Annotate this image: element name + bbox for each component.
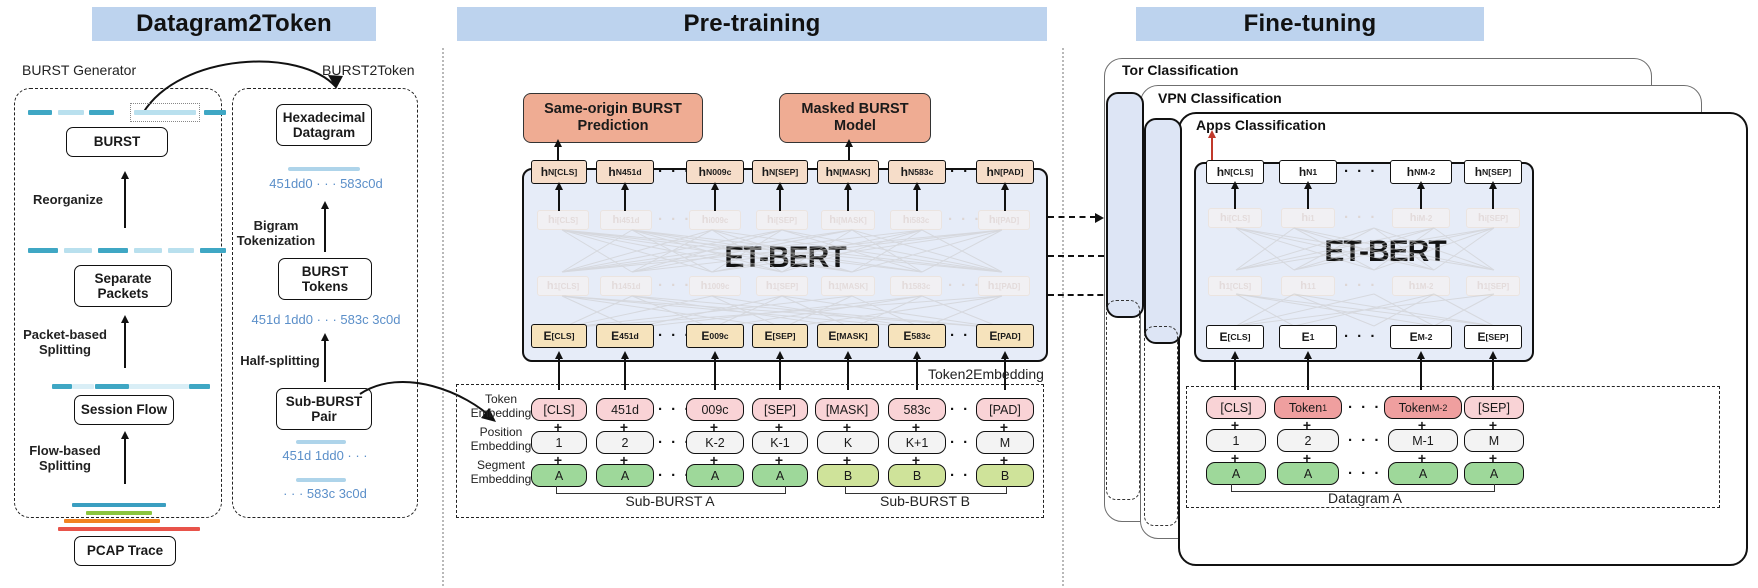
panel-separator-right bbox=[1062, 48, 1064, 586]
burst-segment bbox=[134, 110, 196, 115]
label-token-embedding: Token Embedding bbox=[462, 392, 540, 422]
ft-token-embedding-sep[interactable]: [SEP] bbox=[1464, 396, 1524, 419]
hidden-state-583c[interactable]: hN583c bbox=[888, 160, 946, 184]
stack-edge-tor-dashed bbox=[1106, 300, 1140, 500]
ft-hidden-row-ellipsis: · · · bbox=[1344, 163, 1377, 180]
box-separate-packets-label: Separate Packets bbox=[94, 271, 151, 301]
segment-embedding-b[interactable]: B bbox=[976, 464, 1034, 487]
ft-token-row-ellipsis: · · · bbox=[1348, 399, 1381, 416]
packets-segment bbox=[134, 248, 162, 253]
session-flow-segment bbox=[95, 384, 129, 389]
segment-embedding-a[interactable]: A bbox=[596, 464, 654, 487]
token-embedding-009c[interactable]: 009c bbox=[686, 398, 744, 421]
box-burst-label: BURST bbox=[94, 134, 141, 149]
ft-segment-row-ellipsis: · · · bbox=[1348, 465, 1381, 482]
arrow-hidden-009c bbox=[714, 189, 716, 211]
hex-underline bbox=[296, 440, 346, 444]
position-embedding-k[interactable]: K bbox=[817, 431, 879, 454]
pcap-flow-bar bbox=[64, 519, 160, 523]
packets-segment bbox=[98, 248, 128, 253]
head-box-same-origin-burst-prediction[interactable]: Same-origin BURST Prediction bbox=[523, 93, 703, 143]
figure-root: Datagram2Token Pre-training Fine-tuning … bbox=[0, 0, 1758, 588]
ft-position-embedding-m[interactable]: M bbox=[1464, 429, 1524, 452]
panel-title-pretraining: Pre-training bbox=[457, 7, 1047, 41]
position-embedding-2[interactable]: 2 bbox=[596, 431, 654, 454]
attention-mesh bbox=[522, 224, 1044, 334]
box-separate-packets[interactable]: Separate Packets bbox=[74, 265, 172, 307]
ft-embedding-1[interactable]: E1 bbox=[1279, 325, 1337, 349]
segment-embedding-b[interactable]: B bbox=[888, 464, 946, 487]
packets-segment bbox=[28, 248, 58, 253]
session-flow-segment bbox=[72, 384, 94, 389]
embedding-451d[interactable]: E451d bbox=[596, 324, 654, 348]
sub-burst-a-label: Sub-BURST A bbox=[590, 493, 750, 509]
pcap-flow-bar bbox=[58, 527, 200, 531]
token-embedding-cls[interactable]: [CLS] bbox=[531, 398, 587, 421]
stack-edge-tor bbox=[1106, 92, 1144, 318]
position-embedding-k-1[interactable]: K-1 bbox=[752, 431, 808, 454]
session-flow-segment bbox=[52, 384, 72, 389]
token2embedding-label: Token2Embedding bbox=[928, 366, 1044, 382]
position-embedding-m[interactable]: M bbox=[976, 431, 1034, 454]
box-session-flow[interactable]: Session Flow bbox=[74, 395, 174, 425]
label-half-splitting: Half-splitting bbox=[238, 353, 322, 368]
hidden-state-sep[interactable]: hN[SEP] bbox=[752, 160, 808, 184]
hidden-state-009c[interactable]: hN009c bbox=[686, 160, 744, 184]
embedding-mask[interactable]: E[MASK] bbox=[817, 324, 879, 348]
burst-segment bbox=[89, 110, 114, 115]
panel-title-datagram2token: Datagram2Token bbox=[92, 7, 376, 41]
label-position-embedding: Position Embedding bbox=[462, 425, 540, 455]
stack-edge-vpn-dashed bbox=[1144, 326, 1178, 526]
arrow-hidden-583c bbox=[916, 189, 918, 211]
segment-embedding-a[interactable]: A bbox=[531, 464, 587, 487]
ft-token-embedding-token1[interactable]: Token1 bbox=[1274, 396, 1342, 419]
datagram-a-label: Datagram A bbox=[1290, 490, 1440, 506]
ft-token-embedding-cls[interactable]: [CLS] bbox=[1206, 396, 1266, 419]
token-embedding-583c[interactable]: 583c bbox=[888, 398, 946, 421]
box-hexadecimal-datagram-label: Hexadecimal Datagram bbox=[283, 110, 366, 140]
sub-burst-b-label: Sub-BURST B bbox=[845, 493, 1005, 509]
arrow-hidden-pad bbox=[1004, 189, 1006, 211]
burst-segment bbox=[28, 110, 52, 115]
arrow-hidden-sep bbox=[779, 189, 781, 211]
session-flow-segment bbox=[189, 384, 210, 389]
box-pcap-trace[interactable]: PCAP Trace bbox=[74, 536, 176, 566]
label-bigram-tokenization: Bigram Tokenization bbox=[232, 218, 320, 248]
arrow-flow-based-splitting bbox=[124, 438, 126, 484]
burst-segment bbox=[58, 110, 84, 115]
stack-edge-vpn bbox=[1144, 118, 1182, 344]
box-burst[interactable]: BURST bbox=[66, 127, 168, 157]
token-embedding-mask[interactable]: [MASK] bbox=[815, 398, 879, 421]
burst-generator-label: BURST Generator bbox=[22, 62, 136, 78]
hex-row-1: 451dd0 · · · 583c0d bbox=[250, 176, 402, 191]
ft-embedding-row-ellipsis: · · · bbox=[1344, 328, 1377, 345]
box-session-flow-label: Session Flow bbox=[81, 402, 167, 417]
embedding-009c[interactable]: E009c bbox=[686, 324, 744, 348]
hex-underline bbox=[296, 478, 346, 482]
ft-position-embedding-1[interactable]: 1 bbox=[1206, 429, 1266, 452]
panel-separator-left bbox=[442, 48, 444, 586]
hex-row-2: 451d 1dd0 · · · 583c 3c0d bbox=[236, 312, 416, 327]
embedding-cls[interactable]: E[CLS] bbox=[531, 324, 587, 348]
segment-embedding-b[interactable]: B bbox=[817, 464, 879, 487]
embedding-583c[interactable]: E583c bbox=[888, 324, 946, 348]
arrow-hidden-cls bbox=[558, 189, 560, 211]
position-embedding-k+1[interactable]: K+1 bbox=[888, 431, 946, 454]
token-embedding-451d[interactable]: 451d bbox=[596, 398, 654, 421]
ft-segment-embedding-a[interactable]: A bbox=[1464, 462, 1524, 485]
card-vpn-classification-label: VPN Classification bbox=[1158, 90, 1282, 106]
session-flow-segment bbox=[129, 384, 189, 389]
ft-arrow-hidden-sep bbox=[1492, 188, 1494, 209]
arrow-half-splitting bbox=[324, 340, 326, 382]
hidden-state-mask[interactable]: hN[MASK] bbox=[817, 160, 879, 184]
transfer-arrow-tor bbox=[1048, 216, 1096, 218]
arrow-reorganize bbox=[124, 178, 126, 228]
segment-embedding-a[interactable]: A bbox=[752, 464, 808, 487]
ft-position-row-ellipsis: · · · bbox=[1348, 432, 1381, 449]
attention-mesh bbox=[1194, 222, 1530, 332]
label-packet-based-splitting: Packet-based Splitting bbox=[14, 327, 116, 357]
burst-segment bbox=[204, 110, 226, 115]
pcap-flow-bar bbox=[72, 503, 166, 507]
label-flow-based-splitting: Flow-based Splitting bbox=[16, 443, 114, 473]
hidden-state-pad[interactable]: hN[PAD] bbox=[976, 160, 1034, 184]
ft-embedding-cls[interactable]: E[CLS] bbox=[1206, 325, 1264, 349]
packets-segment bbox=[64, 248, 92, 253]
ft-arrow-hidden-1 bbox=[1307, 188, 1309, 209]
embedding-pad[interactable]: E[PAD] bbox=[976, 324, 1034, 348]
arrow-hidden-451d bbox=[624, 189, 626, 211]
packets-segment bbox=[200, 248, 226, 253]
box-burst-tokens-label: BURST Tokens bbox=[302, 264, 349, 294]
box-sub-burst-pair-label: Sub-BURST Pair bbox=[286, 394, 363, 424]
box-hexadecimal-datagram[interactable]: Hexadecimal Datagram bbox=[276, 104, 372, 146]
hex-row-3: 451d 1dd0 · · · bbox=[252, 448, 398, 463]
hidden-state-451d[interactable]: hN451d bbox=[596, 160, 654, 184]
position-embedding-1[interactable]: 1 bbox=[531, 431, 587, 454]
ft-position-embedding-m-1[interactable]: M-1 bbox=[1388, 429, 1458, 452]
ft-position-embedding-2[interactable]: 2 bbox=[1277, 429, 1339, 452]
hidden-state-cls[interactable]: hN[CLS] bbox=[531, 160, 587, 184]
arrow-bigram-tokenization bbox=[324, 208, 326, 252]
hex-row-4: · · · 583c 3c0d bbox=[252, 486, 398, 501]
packets-segment bbox=[168, 248, 194, 253]
box-burst-tokens[interactable]: BURST Tokens bbox=[278, 258, 372, 300]
token-embedding-pad[interactable]: [PAD] bbox=[976, 398, 1034, 421]
arrow-packet-based-splitting bbox=[124, 322, 126, 368]
ft-segment-embedding-a[interactable]: A bbox=[1388, 462, 1458, 485]
arrow-hidden-mask bbox=[847, 189, 849, 211]
label-reorganize: Reorganize bbox=[20, 192, 116, 207]
ft-segment-embedding-a[interactable]: A bbox=[1206, 462, 1266, 485]
hex-underline bbox=[288, 167, 360, 171]
ft-token-embedding-token-m-2[interactable]: TokenM-2 bbox=[1384, 396, 1462, 419]
token-embedding-sep[interactable]: [SEP] bbox=[752, 398, 808, 421]
box-pcap-trace-label: PCAP Trace bbox=[87, 543, 163, 558]
ft-arrow-hidden-cls bbox=[1234, 188, 1236, 209]
head-box-masked-burst-model[interactable]: Masked BURST Model bbox=[779, 93, 931, 143]
position-embedding-k-2[interactable]: K-2 bbox=[686, 431, 744, 454]
ft-embedding-sep[interactable]: E[SEP] bbox=[1464, 325, 1522, 349]
ft-segment-embedding-a[interactable]: A bbox=[1277, 462, 1339, 485]
panel-title-finetuning: Fine-tuning bbox=[1136, 7, 1484, 41]
embedding-sep[interactable]: E[SEP] bbox=[752, 324, 808, 348]
segment-embedding-a[interactable]: A bbox=[686, 464, 744, 487]
card-tor-classification-label: Tor Classification bbox=[1122, 62, 1238, 78]
label-segment-embedding: Segment Embedding bbox=[462, 458, 540, 488]
ft-embedding-m-2[interactable]: EM-2 bbox=[1390, 325, 1452, 349]
pcap-flow-bar bbox=[86, 511, 152, 515]
ft-arrow-hidden-m-2 bbox=[1420, 188, 1422, 209]
